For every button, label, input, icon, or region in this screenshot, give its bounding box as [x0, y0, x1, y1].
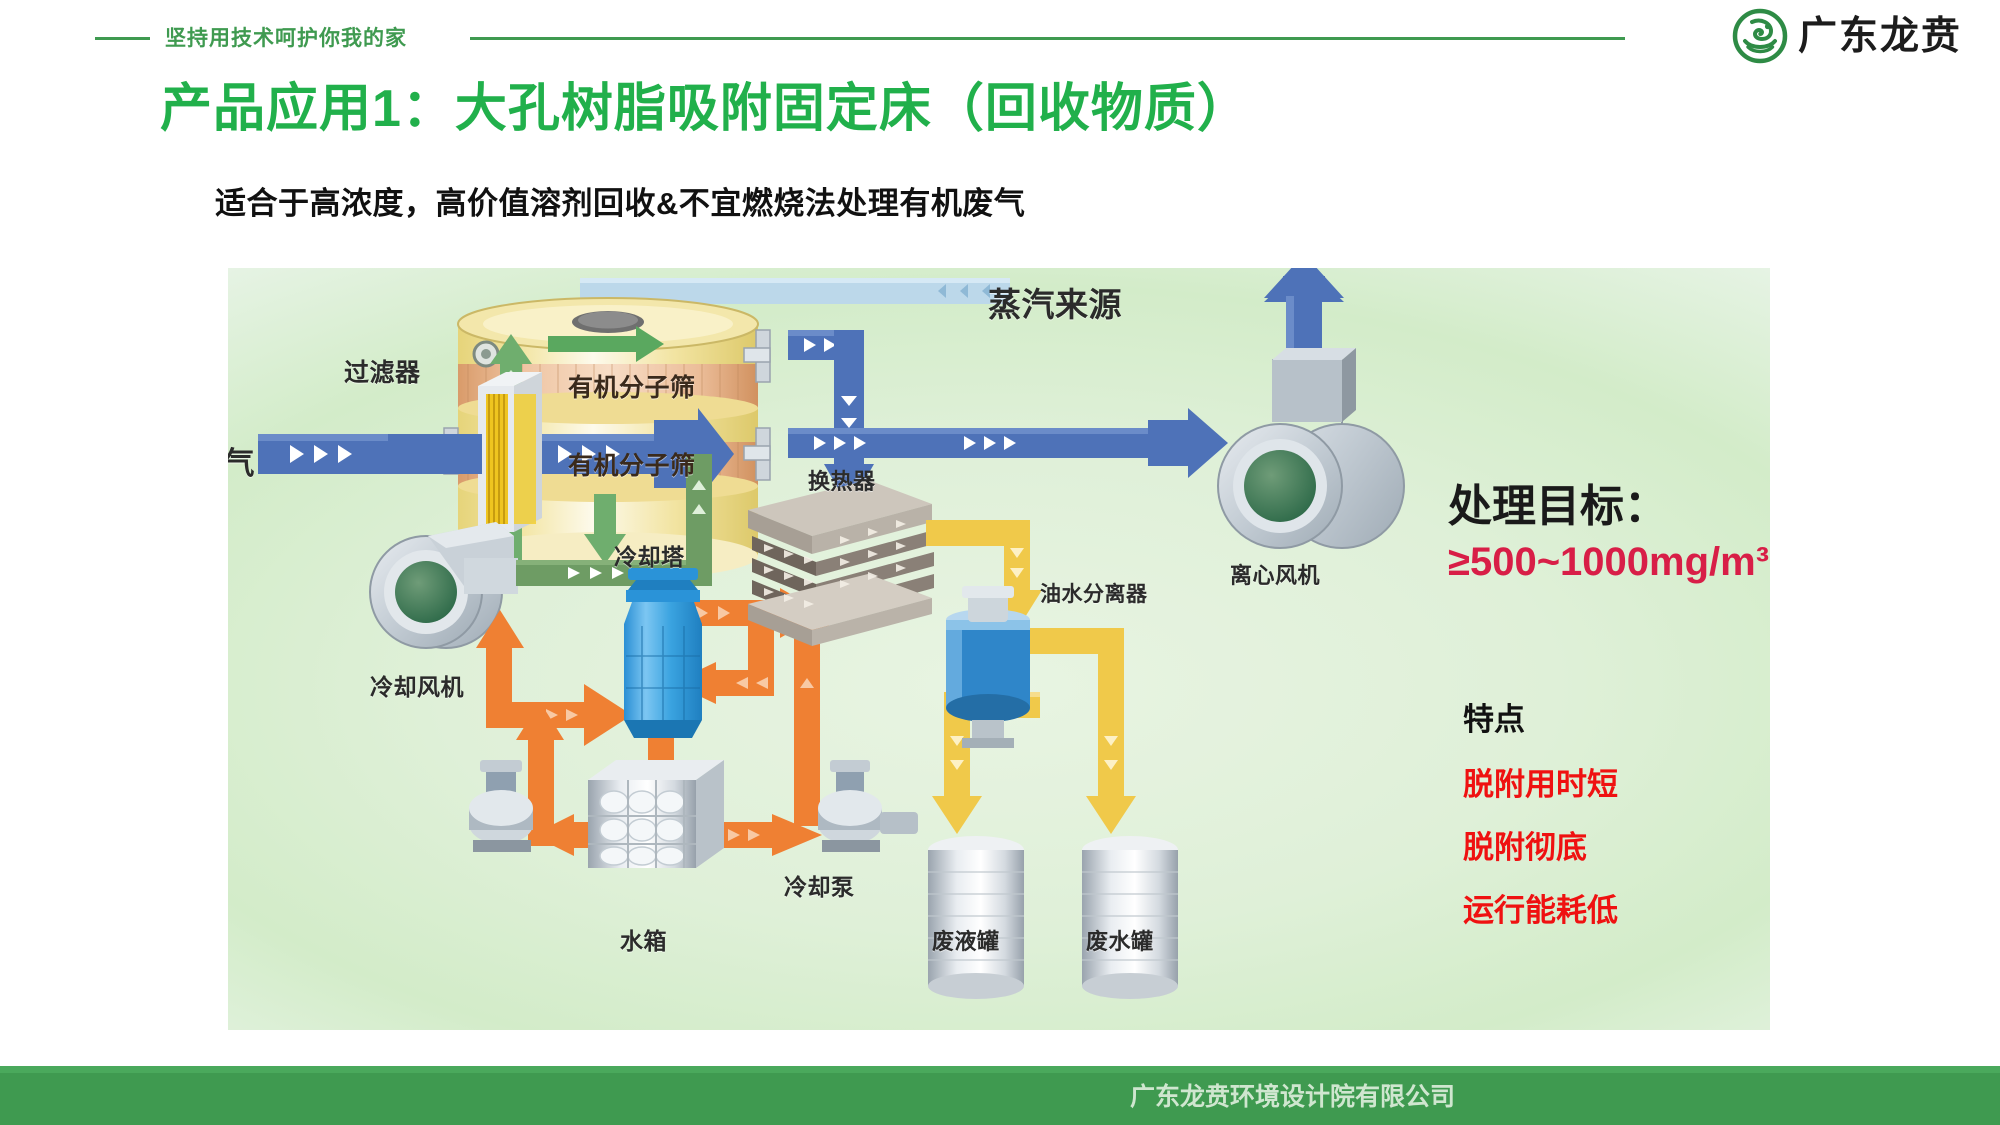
page-title: 产品应用1：大孔树脂吸附固定床（回收物质）	[160, 66, 1250, 141]
label-water-tank: 水箱	[620, 922, 667, 956]
water-tank-box	[588, 760, 724, 868]
label-filter: 过滤器	[344, 353, 421, 389]
feature-item-1: 脱附用时短	[1463, 759, 1618, 804]
brand-logo-text: 广东龙贲	[1798, 17, 1962, 56]
label-centrifugal-fan: 离心风机	[1230, 558, 1320, 590]
filter-unit	[478, 372, 542, 532]
waste-water-tank-shape	[1082, 836, 1178, 999]
label-cooling-fan: 冷却风机	[370, 668, 464, 702]
label-oil-water-separator: 油水分离器	[1040, 578, 1148, 608]
heat-exchanger	[748, 480, 934, 646]
green-circle-leaf-logo-icon	[1732, 8, 1788, 64]
feature-item-3: 运行能耗低	[1463, 885, 1618, 930]
footer-bar	[0, 1073, 2000, 1125]
waste-liquid-tank-shape	[928, 836, 1024, 999]
feature-item-2: 脱附彻底	[1463, 822, 1587, 867]
label-waste-gas: 废气	[228, 438, 255, 483]
header-rule-left	[95, 37, 150, 40]
label-waste-water-tank: 废水罐	[1086, 924, 1154, 956]
label-cooling-pump: 冷却泵	[784, 868, 855, 902]
label-waste-liquid-tank: 废液罐	[932, 924, 1000, 956]
centrifugal-fan-main	[1218, 268, 1404, 548]
label-heat-exchanger: 换热器	[808, 464, 876, 496]
pump-left	[469, 760, 533, 852]
label-molecular-sieve-1: 有机分子筛	[568, 368, 696, 404]
header-tagline: 坚持用技术呵护你我的家	[165, 22, 407, 52]
slide-root: 坚持用技术呵护你我的家 广东龙贲 产品应用1：大孔树脂吸附固定床（回收物质） 适…	[0, 0, 2000, 1125]
cooling-tower	[624, 568, 702, 738]
label-molecular-sieve-2: 有机分子筛	[568, 446, 696, 482]
pump-right	[818, 760, 918, 852]
footer-company: 广东龙贲环境设计院有限公司	[1130, 1077, 1455, 1113]
treatment-goal-value: ≥500~1000mg/m³	[1448, 540, 1769, 585]
label-cooling-tower: 冷却塔	[614, 538, 685, 572]
header-rule-right	[470, 37, 1625, 40]
treatment-goal-title: 处理目标：	[1448, 470, 1668, 534]
brand-logo: 广东龙贲	[1732, 8, 1962, 64]
features-title: 特点	[1463, 694, 1525, 739]
label-steam-source: 蒸汽来源	[988, 278, 1122, 326]
page-subtitle: 适合于高浓度，高价值溶剂回收&不宜燃烧法处理有机废气	[215, 178, 1025, 223]
